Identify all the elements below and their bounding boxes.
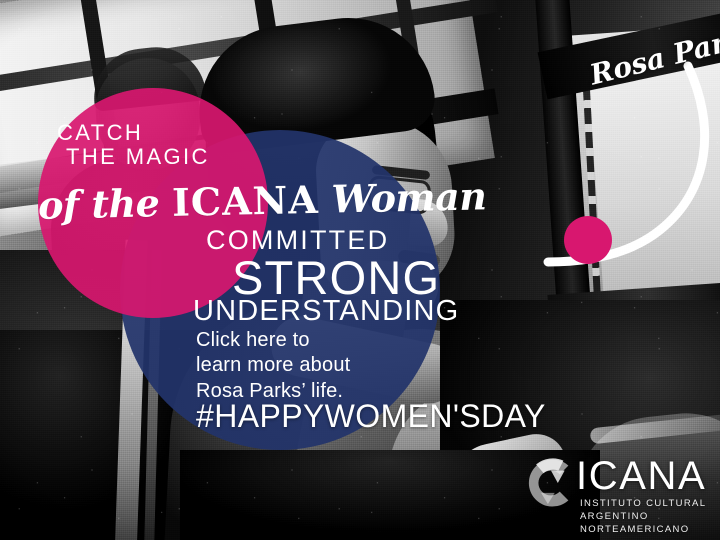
- icana-tagline-line-1: INSTITUTO CULTURAL: [580, 498, 710, 511]
- catch-headline-line-2: THE MAGIC: [66, 144, 210, 171]
- catch-headline-line-1: CATCH: [57, 120, 143, 147]
- icana-woman-script-headline: of the ICANA Woman: [38, 173, 487, 227]
- icana-wordmark: ICANA: [576, 454, 706, 499]
- value-understanding: UNDERSTANDING: [193, 295, 459, 328]
- pink-dot-marker: [564, 216, 612, 264]
- hashtag-happy-womens-day: #HAPPYWOMEN'SDAY: [196, 398, 546, 435]
- cta-line-2: learn more about: [196, 353, 350, 378]
- icana-logo[interactable]: ICANA INSTITUTO CULTURAL ARGENTINO NORTE…: [520, 450, 710, 526]
- script-prefix: of the: [38, 180, 173, 228]
- icana-swirl-mark-icon: [520, 452, 582, 514]
- cta-line-1: Click here to: [196, 328, 350, 353]
- icana-tagline: INSTITUTO CULTURAL ARGENTINO NORTEAMERIC…: [580, 498, 710, 536]
- script-suffix: Woman: [318, 173, 487, 222]
- call-to-action-text[interactable]: Click here to learn more about Rosa Park…: [196, 328, 350, 404]
- banner-canvas: CATCH THE MAGIC of the ICANA Woman COMMI…: [0, 0, 720, 540]
- icana-tagline-line-2: ARGENTINO NORTEAMERICANO: [580, 511, 710, 537]
- script-brand: ICANA: [172, 177, 320, 225]
